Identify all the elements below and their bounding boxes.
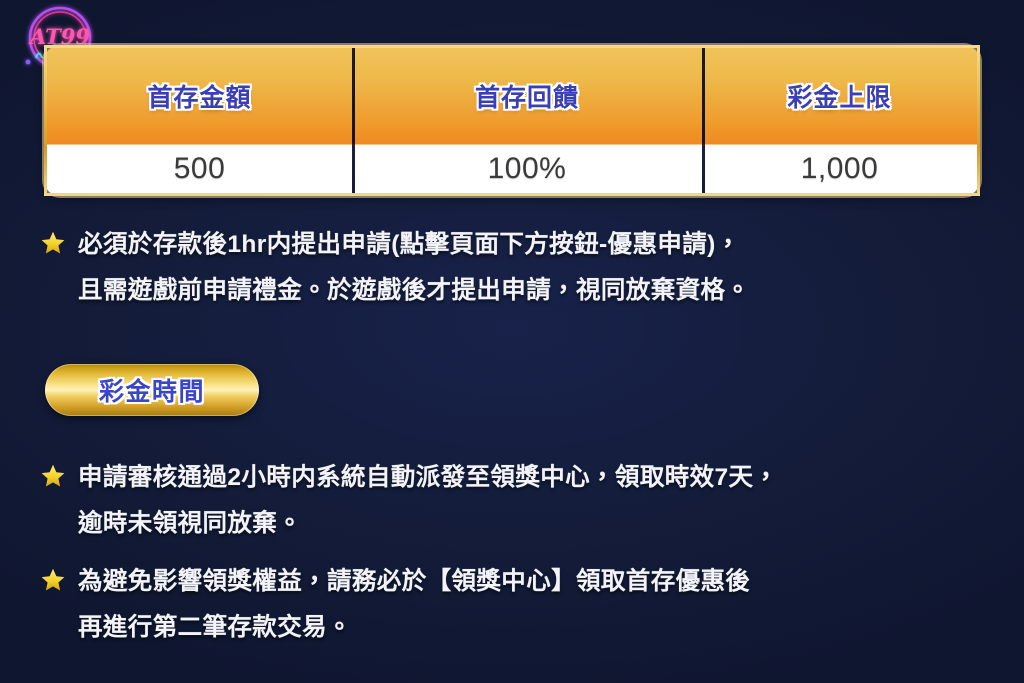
list-item-text: 為避免影響領獎權益，請務必於【領獎中心】領取首存優惠後 再進行第二筆存款交易。 [78, 559, 750, 651]
list-item-line: 再進行第二筆存款交易。 [78, 605, 750, 651]
promo-page-background: AT99 首存金額 首存回饋 彩金上限 500 100% 1,000 [0, 0, 1024, 683]
list-item: 申請審核通過2小時内系統自動派發至領獎中心，領取時效7天， 逾時未領視同放棄。 [0, 455, 1024, 547]
apply-rules-section: 必須於存款後1hr内提出申請(點擊頁面下方按鈕-優惠申請)， 且需遊戲前申請禮金… [0, 222, 1024, 314]
star-icon [40, 230, 66, 256]
table-header-deposit-amount: 首存金額 [47, 48, 352, 144]
list-item-line: 且需遊戲前申請禮金。於遊戲後才提出申請，視同放棄資格。 [78, 268, 750, 314]
section-badge-bonus-time: 彩金時間 [45, 364, 259, 416]
list-item-line: 為避免影響領獎權益，請務必於【領獎中心】領取首存優惠後 [78, 559, 750, 605]
section-badge-label: 彩金時間 [99, 372, 205, 408]
list-item-text: 必須於存款後1hr内提出申請(點擊頁面下方按鈕-優惠申請)， 且需遊戲前申請禮金… [78, 222, 750, 314]
table-header-deposit-rebate: 首存回饋 [352, 48, 702, 144]
list-item-line: 必須於存款後1hr内提出申請(點擊頁面下方按鈕-優惠申請)， [78, 222, 750, 268]
table-column-divider-1 [352, 48, 355, 193]
table-value-bonus-cap: 1,000 [702, 144, 977, 193]
list-item: 為避免影響領獎權益，請務必於【領獎中心】領取首存優惠後 再進行第二筆存款交易。 [0, 559, 1024, 651]
list-item-line: 逾時未領視同放棄。 [78, 501, 778, 547]
bonus-time-section: 申請審核通過2小時内系統自動派發至領獎中心，領取時效7天， 逾時未領視同放棄。 … [0, 455, 1024, 651]
star-icon [40, 567, 66, 593]
list-item-text: 申請審核通過2小時内系統自動派發至領獎中心，領取時效7天， 逾時未領視同放棄。 [78, 455, 778, 547]
list-item-line: 申請審核通過2小時内系統自動派發至領獎中心，領取時效7天， [78, 455, 778, 501]
table-header-bonus-cap: 彩金上限 [702, 48, 977, 144]
list-item: 必須於存款後1hr内提出申請(點擊頁面下方按鈕-優惠申請)， 且需遊戲前申請禮金… [0, 222, 1024, 314]
table-value-deposit-rebate: 100% [352, 144, 702, 193]
table-column-divider-2 [702, 48, 705, 193]
table-value-deposit-amount: 500 [47, 144, 352, 193]
star-icon [40, 463, 66, 489]
bonus-table-grid: 首存金額 首存回饋 彩金上限 500 100% 1,000 [47, 48, 977, 193]
first-deposit-bonus-table: 首存金額 首存回饋 彩金上限 500 100% 1,000 [44, 45, 980, 196]
